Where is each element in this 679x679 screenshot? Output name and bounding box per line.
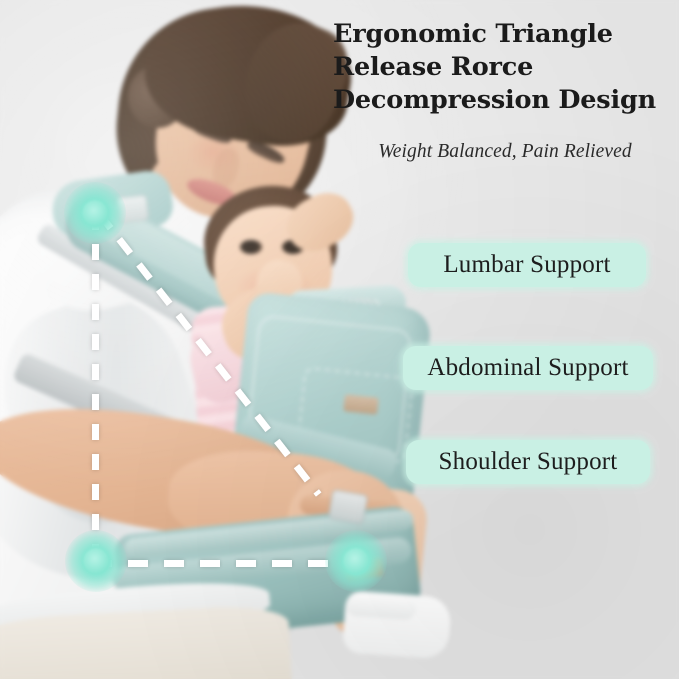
feature-pill-lumbar-support: Lumbar Support <box>408 243 646 287</box>
feature-pill-label: Shoulder Support <box>439 448 618 476</box>
feature-pill-label: Abdominal Support <box>427 354 628 382</box>
headline-line-3: Decompression Design <box>333 84 679 117</box>
feature-pill-abdominal-support: Abdominal Support <box>403 346 653 390</box>
headline-line-2: Release Rorce <box>333 51 679 84</box>
carrier-buckle-waist <box>328 489 369 525</box>
headline-line-1: Ergonomic Triangle <box>333 18 679 51</box>
subtitle: Weight Balanced, Pain Relieved <box>340 141 670 163</box>
feature-pill-shoulder-support: Shoulder Support <box>406 440 650 484</box>
feature-pill-label: Lumbar Support <box>443 251 610 279</box>
carrier-brand-label <box>343 394 379 414</box>
baby-eye <box>240 240 262 254</box>
page-title: Ergonomic Triangle Release Rorce Decompr… <box>333 18 679 117</box>
product-graphic: Ergonomic Triangle Release Rorce Decompr… <box>0 0 679 679</box>
carrier-buckle-top <box>115 194 150 223</box>
